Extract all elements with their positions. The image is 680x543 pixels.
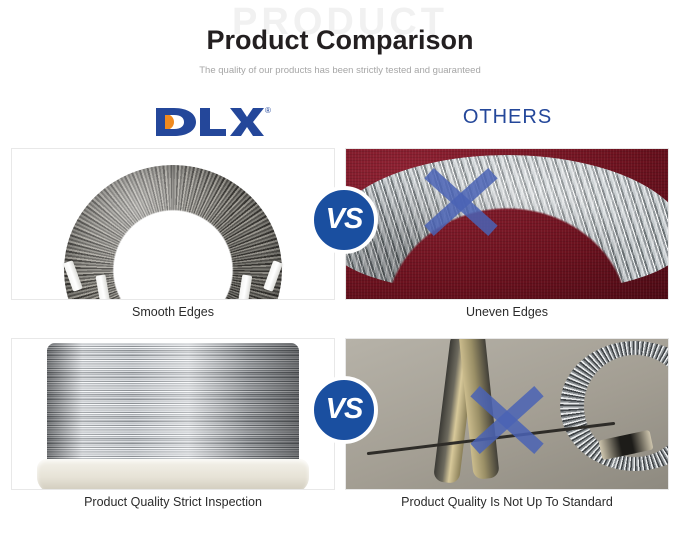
vs-badge-label: VS: [326, 394, 363, 424]
tangled-wire-bundle-shape: [345, 155, 669, 293]
caption-ours-row1: Smooth Edges: [10, 303, 336, 321]
page-header: PRODUCT Product Comparison The quality o…: [0, 0, 680, 96]
caption-others-row2: Product Quality Is Not Up To Standard: [344, 493, 670, 511]
caption-ours-row2: Product Quality Strict Inspection: [10, 493, 336, 511]
panel-others-row2[interactable]: [345, 338, 669, 490]
dlx-logo-icon: ®: [152, 100, 272, 140]
page-title: Product Comparison: [0, 24, 680, 56]
vs-badge-label: VS: [326, 204, 363, 234]
page-subtitle: The quality of our products has been str…: [0, 64, 680, 78]
tangled-wire-image: [346, 149, 668, 299]
vs-badge-row1: VS: [310, 186, 378, 254]
pliers-cutting-wire-image: [346, 339, 668, 489]
dlx-logo: ®: [152, 100, 272, 140]
wire-spool-image: [12, 339, 334, 489]
brand-row: ® OTHERS: [0, 96, 680, 148]
spool-shape: [37, 343, 309, 490]
panel-ours-row1[interactable]: [11, 148, 335, 300]
comparison-row-2: VS Product Quality Strict Inspection Pro…: [0, 338, 680, 528]
panel-ours-row2[interactable]: [11, 338, 335, 490]
others-label: OTHERS: [345, 104, 670, 130]
wire-coil-image: [12, 149, 334, 299]
svg-text:®: ®: [265, 106, 271, 115]
comparison-row-1: VS Smooth Edges Uneven Edges: [0, 148, 680, 338]
spool-wound-wire: [47, 343, 299, 469]
vs-badge-row2: VS: [310, 376, 378, 444]
panel-others-row1[interactable]: [345, 148, 669, 300]
caption-others-row1: Uneven Edges: [344, 303, 670, 321]
spool-flange: [37, 459, 309, 490]
